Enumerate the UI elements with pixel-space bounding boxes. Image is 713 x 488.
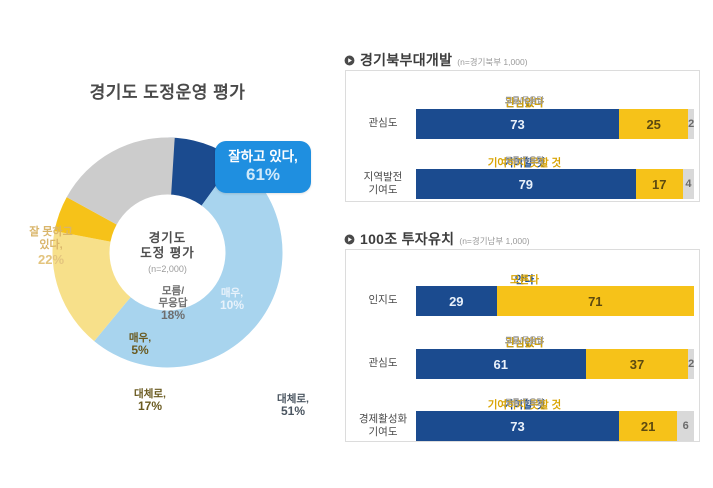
bar-segment-value: 21	[641, 419, 655, 434]
bar-segment-gold: 37	[586, 349, 689, 379]
bar-segment-gold: 21	[619, 411, 677, 441]
bar-row-label: 관심도	[352, 117, 414, 130]
bar-segment-value: 6	[683, 420, 689, 432]
bar-segment-value: 2	[688, 118, 694, 130]
stacked-bar: 61372	[416, 349, 694, 379]
bar-segment-navy: 61	[416, 349, 586, 379]
bar-chart-panel-1: 관심있다관심없다모름/무응답관심도73252기여할 것기여하지 못할 것모름/무…	[345, 70, 700, 202]
section-title-1: 경기북부대개발	[360, 50, 452, 70]
bar-segment-value: 4	[685, 178, 691, 190]
bar-segment-navy: 29	[416, 286, 497, 316]
bar-row-label: 관심도	[352, 357, 414, 370]
slice-label-mostly-good: 대체로, 51%	[265, 393, 321, 419]
bar-caption: 모름/무응답	[348, 155, 701, 166]
callout-label-line2: 있다,	[14, 239, 88, 252]
bar-segment-gray: 4	[683, 169, 694, 199]
donut-center-line1: 경기도	[108, 230, 228, 246]
bar-chart-panel-2: 안다모른다인지도2971관심있다관심없다모름/무응답관심도61372기여할 것기…	[345, 249, 700, 442]
section-sample-size-2: (n=경기남부 1,000)	[459, 235, 529, 247]
bar-segment-navy: 73	[416, 411, 619, 441]
bar-segment-value: 79	[519, 177, 533, 192]
bar-segment-gray: 6	[677, 411, 694, 441]
play-circle-icon	[344, 234, 355, 245]
bar-segment-value: 73	[510, 117, 524, 132]
page-title: 경기도 도정운영 평가	[0, 78, 335, 103]
stacked-bar: 2971	[416, 286, 694, 316]
callout-value: 61%	[246, 165, 280, 185]
bar-segment-gold: 25	[619, 109, 689, 139]
bar-segment-gray: 2	[688, 109, 694, 139]
bar-segment-value: 73	[510, 419, 524, 434]
stacked-bar: 73216	[416, 411, 694, 441]
highlight-callout-negative: 잘 못하고 있다, 22%	[14, 226, 88, 268]
bar-row-label: 경제활성화기여도	[352, 413, 414, 439]
bar-segment-value: 61	[494, 357, 508, 372]
callout-value: 22%	[14, 252, 88, 268]
bar-segment-gold: 71	[497, 286, 694, 316]
bar-segment-value: 37	[630, 357, 644, 372]
stacked-bar: 73252	[416, 109, 694, 139]
bar-segment-navy: 73	[416, 109, 619, 139]
bar-caption: 모름/무응답	[348, 335, 701, 346]
bar-caption: 모름/무응답	[348, 95, 701, 106]
bar-segment-gold: 17	[636, 169, 683, 199]
bar-row-label: 인지도	[352, 294, 414, 307]
slice-label-text: 대체로,	[265, 393, 321, 405]
bar-row-label: 지역발전기여도	[352, 171, 414, 197]
donut-center-label: 경기도 도정 평가 (n=2,000)	[108, 230, 228, 275]
donut-center-line2: 도정 평가	[108, 246, 228, 262]
stacked-bar: 79174	[416, 169, 694, 199]
section-header-1: 경기북부대개발 (n=경기북부 1,000)	[344, 50, 528, 70]
donut-sample-size: (n=2,000)	[108, 264, 228, 275]
bar-segment-value: 25	[646, 117, 660, 132]
bar-segment-gray: 2	[688, 349, 694, 379]
slice-label-mostly-bad: 대체로, 17%	[122, 388, 178, 414]
slice-label-value: 17%	[122, 400, 178, 414]
donut-chart-panel: 경기도 도정운영 평가 경기도 도정 평가 (n=2,000) 매우, 10% …	[0, 0, 335, 488]
bar-caption: 모른다	[348, 272, 701, 287]
callout-label: 잘하고 있다,	[228, 150, 298, 165]
play-circle-icon	[344, 55, 355, 66]
bar-segment-value: 71	[588, 294, 602, 309]
bar-segment-navy: 79	[416, 169, 636, 199]
callout-label-line1: 잘 못하고	[14, 226, 88, 239]
slice-label-value: 51%	[265, 405, 321, 419]
section-header-2: 100조 투자유치 (n=경기남부 1,000)	[344, 229, 530, 249]
bar-segment-value: 17	[652, 177, 666, 192]
bar-segment-value: 29	[449, 294, 463, 309]
bar-segment-value: 2	[688, 358, 694, 370]
highlight-callout-positive: 잘하고 있다, 61%	[215, 141, 311, 193]
section-sample-size-1: (n=경기북부 1,000)	[457, 56, 527, 68]
slice-label-text: 대체로,	[122, 388, 178, 400]
bar-caption: 모름/무응답	[348, 397, 701, 408]
section-title-2: 100조 투자유치	[360, 229, 454, 249]
